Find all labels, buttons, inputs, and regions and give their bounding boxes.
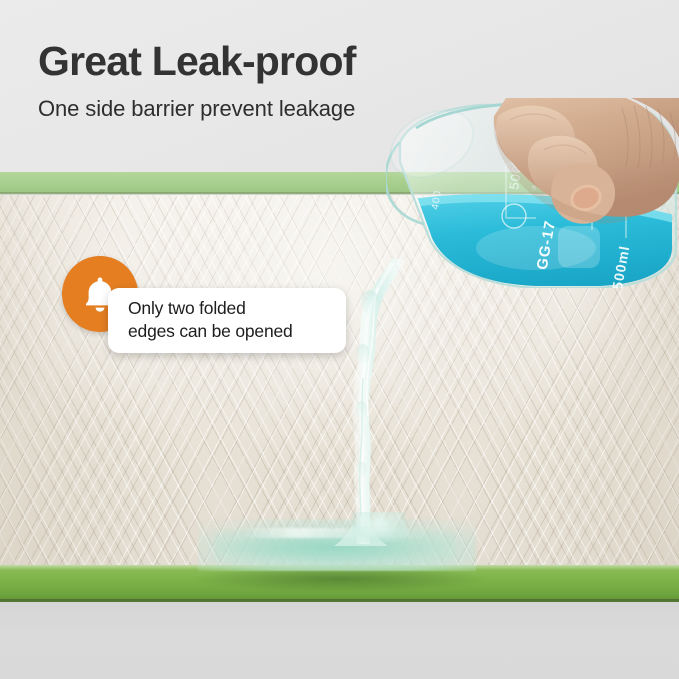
callout-line-2: edges can be opened <box>128 320 343 343</box>
mat-wet-shadow <box>195 570 485 592</box>
callout-line-1: Only two folded <box>128 297 343 320</box>
background-base <box>0 602 679 679</box>
water-impact-splash <box>352 512 406 542</box>
callout-text: Only two folded edges can be opened <box>128 297 343 343</box>
product-feature-image: Great Leak-proof One side barrier preven… <box>0 0 679 679</box>
page-title: Great Leak-proof <box>38 40 458 83</box>
beaker-and-hand: 500 APPROX 200 300 400 GG-17 500ml <box>386 98 679 288</box>
